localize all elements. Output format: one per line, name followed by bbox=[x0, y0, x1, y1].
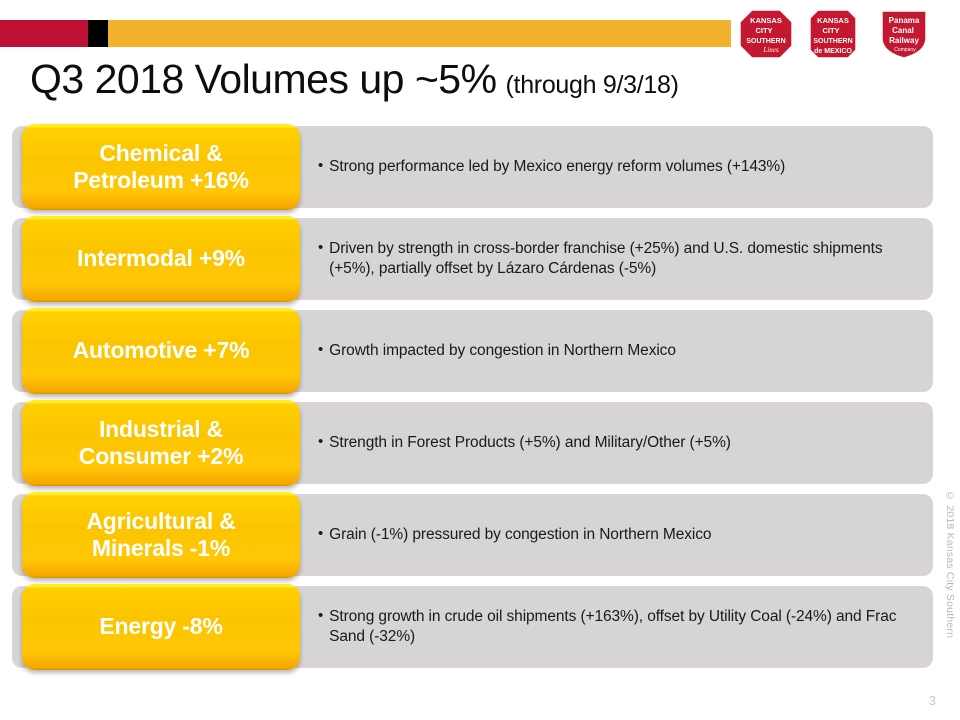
bullet-dot-icon: • bbox=[318, 239, 323, 257]
commodity-label-text: Energy -8% bbox=[93, 613, 228, 640]
commodity-label-text: Intermodal +9% bbox=[71, 245, 251, 272]
bullet-item: •Strong growth in crude oil shipments (+… bbox=[318, 607, 918, 648]
commodity-detail-area: •Strength in Forest Products (+5%) and M… bbox=[318, 402, 918, 484]
bullet-text: Grain (-1%) pressured by congestion in N… bbox=[329, 525, 711, 545]
commodity-label-button[interactable]: Agricultural &Minerals -1% bbox=[22, 492, 300, 578]
svg-text:CITY: CITY bbox=[755, 26, 772, 35]
commodity-label-button[interactable]: Intermodal +9% bbox=[22, 216, 300, 302]
commodity-rows: Chemical &Petroleum +16%•Strong performa… bbox=[0, 124, 960, 676]
svg-text:Railway: Railway bbox=[889, 36, 919, 45]
bullet-dot-icon: • bbox=[318, 157, 323, 175]
bullet-text: Strong performance led by Mexico energy … bbox=[329, 157, 785, 177]
commodity-row: Chemical &Petroleum +16%•Strong performa… bbox=[0, 124, 960, 210]
bullet-dot-icon: • bbox=[318, 525, 323, 543]
commodity-row: Industrial &Consumer +2%•Strength in For… bbox=[0, 400, 960, 486]
commodity-detail-area: •Grain (-1%) pressured by congestion in … bbox=[318, 494, 918, 576]
svg-text:Panama: Panama bbox=[889, 16, 920, 25]
svg-text:Canal: Canal bbox=[892, 26, 914, 35]
commodity-row: Energy -8%•Strong growth in crude oil sh… bbox=[0, 584, 960, 670]
commodity-label-text: Agricultural &Minerals -1% bbox=[80, 508, 241, 562]
commodity-label-text: Industrial &Consumer +2% bbox=[73, 416, 249, 470]
commodity-label-button[interactable]: Industrial &Consumer +2% bbox=[22, 400, 300, 486]
bullet-text: Driven by strength in cross-border franc… bbox=[329, 239, 918, 280]
bullet-text: Strong growth in crude oil shipments (+1… bbox=[329, 607, 918, 648]
svg-text:SOUTHERN: SOUTHERN bbox=[813, 38, 852, 45]
page-number: 3 bbox=[929, 693, 936, 708]
svg-text:Lines: Lines bbox=[762, 46, 778, 54]
svg-text:KANSAS: KANSAS bbox=[750, 16, 782, 25]
page-title-subtitle: (through 9/3/18) bbox=[506, 71, 679, 100]
page-title-main: Q3 2018 Volumes up ~5% bbox=[30, 56, 497, 103]
copyright-notice: © 2018 Kansas City Southern bbox=[940, 490, 956, 650]
svg-text:CITY: CITY bbox=[822, 26, 839, 35]
svg-text:SOUTHERN: SOUTHERN bbox=[746, 38, 785, 45]
accent-bar-red-segment bbox=[0, 20, 88, 47]
commodity-detail-area: •Strong growth in crude oil shipments (+… bbox=[318, 586, 918, 668]
kansas-city-southern-de-mexico-logo: KANSAS CITY SOUTHERN de MEXICO bbox=[808, 8, 864, 60]
commodity-detail-area: •Strong performance led by Mexico energy… bbox=[318, 126, 918, 208]
commodity-label-text: Automotive +7% bbox=[67, 337, 256, 364]
bullet-dot-icon: • bbox=[318, 341, 323, 359]
bullet-item: •Strength in Forest Products (+5%) and M… bbox=[318, 433, 731, 453]
top-accent-bar bbox=[0, 20, 731, 47]
commodity-label-text: Chemical &Petroleum +16% bbox=[67, 140, 255, 194]
logo-group: KANSAS CITY SOUTHERN Lines KANSAS CITY S… bbox=[738, 8, 934, 60]
bullet-dot-icon: • bbox=[318, 433, 323, 451]
bullet-item: •Driven by strength in cross-border fran… bbox=[318, 239, 918, 280]
bullet-text: Strength in Forest Products (+5%) and Mi… bbox=[329, 433, 731, 453]
commodity-row: Agricultural &Minerals -1%•Grain (-1%) p… bbox=[0, 492, 960, 578]
kansas-city-southern-lines-logo: KANSAS CITY SOUTHERN Lines bbox=[738, 8, 794, 60]
commodity-detail-area: •Driven by strength in cross-border fran… bbox=[318, 218, 918, 300]
accent-bar-black-segment bbox=[88, 20, 108, 47]
panama-canal-railway-logo: Panama Canal Railway Company bbox=[878, 8, 934, 60]
accent-bar-gold-segment bbox=[108, 20, 731, 47]
bullet-dot-icon: • bbox=[318, 607, 323, 625]
svg-text:Company: Company bbox=[894, 47, 916, 53]
bullet-text: Growth impacted by congestion in Norther… bbox=[329, 341, 676, 361]
commodity-label-button[interactable]: Energy -8% bbox=[22, 584, 300, 670]
page-title: Q3 2018 Volumes up ~5% (through 9/3/18) bbox=[30, 56, 679, 103]
svg-text:de MEXICO: de MEXICO bbox=[814, 48, 852, 55]
svg-text:KANSAS: KANSAS bbox=[817, 16, 849, 25]
commodity-row: Intermodal +9%•Driven by strength in cro… bbox=[0, 216, 960, 302]
bullet-item: •Growth impacted by congestion in Northe… bbox=[318, 341, 676, 361]
commodity-label-button[interactable]: Chemical &Petroleum +16% bbox=[22, 124, 300, 210]
commodity-label-button[interactable]: Automotive +7% bbox=[22, 308, 300, 394]
bullet-item: •Strong performance led by Mexico energy… bbox=[318, 157, 785, 177]
commodity-row: Automotive +7%•Growth impacted by conges… bbox=[0, 308, 960, 394]
commodity-detail-area: •Growth impacted by congestion in Northe… bbox=[318, 310, 918, 392]
bullet-item: •Grain (-1%) pressured by congestion in … bbox=[318, 525, 711, 545]
